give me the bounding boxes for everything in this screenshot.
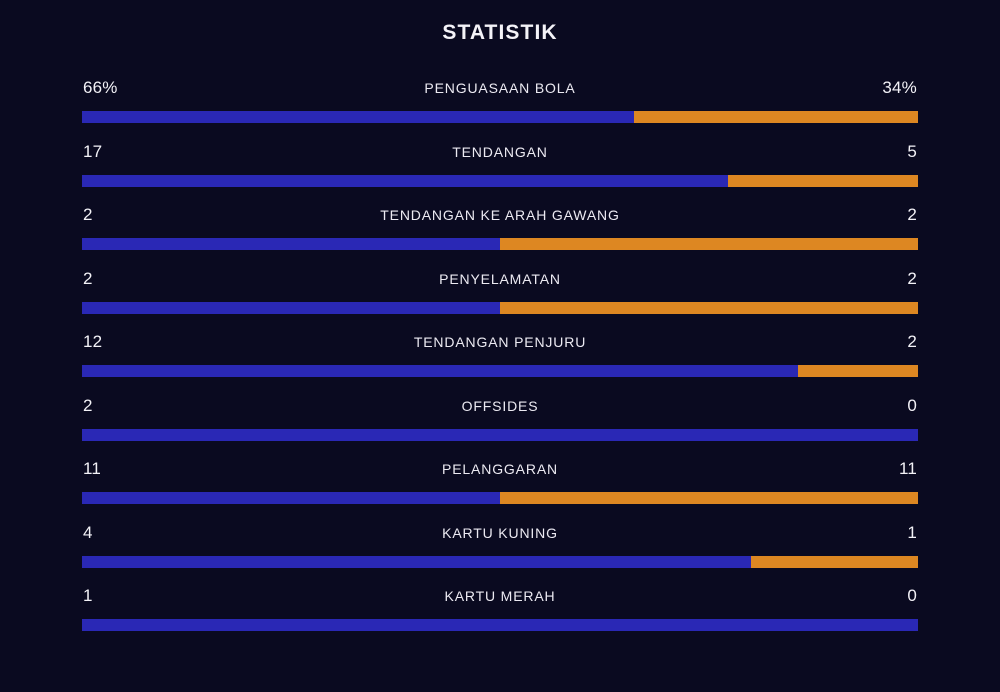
stat-row-labels: 4KARTU KUNING1	[82, 521, 918, 551]
stat-label: TENDANGAN	[82, 142, 918, 162]
away-bar	[82, 111, 918, 123]
away-value: 0	[907, 584, 917, 608]
match-statistics-panel: STATISTIK 66%PENGUASAAN BOLA34%17TENDANG…	[0, 0, 1000, 692]
stat-row-labels: 66%PENGUASAAN BOLA34%	[82, 76, 918, 106]
stat-label: PENGUASAAN BOLA	[82, 78, 918, 98]
stat-label: TENDANGAN PENJURU	[82, 332, 918, 352]
stat-row-labels: 2PENYELAMATAN2	[82, 267, 918, 297]
stat-row-labels: 12TENDANGAN PENJURU2	[82, 330, 918, 360]
stat-row: 1KARTU MERAH0	[82, 584, 918, 648]
stat-row: 17TENDANGAN5	[82, 140, 918, 204]
away-value: 34%	[882, 76, 917, 100]
away-bar	[82, 302, 918, 314]
away-bar	[82, 238, 918, 250]
away-value: 2	[907, 267, 917, 291]
away-bar	[82, 619, 918, 631]
stat-row: 66%PENGUASAAN BOLA34%	[82, 76, 918, 140]
stat-row-labels: 11PELANGGARAN11	[82, 457, 918, 487]
away-value: 2	[907, 203, 917, 227]
home-bar	[82, 111, 634, 123]
away-bar	[82, 175, 918, 187]
stat-row: 2PENYELAMATAN2	[82, 267, 918, 331]
away-value: 0	[907, 394, 917, 418]
stat-label: KARTU MERAH	[82, 586, 918, 606]
stat-label: OFFSIDES	[82, 396, 918, 416]
stat-row: 2OFFSIDES0	[82, 394, 918, 458]
away-value: 11	[899, 457, 917, 481]
home-bar	[82, 238, 500, 250]
home-bar	[82, 492, 500, 504]
away-bar	[82, 492, 918, 504]
page-title: STATISTIK	[0, 21, 1000, 45]
stat-row-labels: 2TENDANGAN KE ARAH GAWANG2	[82, 203, 918, 233]
stat-row: 11PELANGGARAN11	[82, 457, 918, 521]
stat-row: 4KARTU KUNING1	[82, 521, 918, 585]
away-value: 2	[907, 330, 917, 354]
away-value: 5	[907, 140, 917, 164]
home-bar	[82, 175, 728, 187]
stat-label: KARTU KUNING	[82, 523, 918, 543]
stat-label: PENYELAMATAN	[82, 269, 918, 289]
home-bar	[82, 556, 751, 568]
away-bar	[82, 556, 918, 568]
stat-row-labels: 17TENDANGAN5	[82, 140, 918, 170]
stat-row-labels: 1KARTU MERAH0	[82, 584, 918, 614]
statistics-list: 66%PENGUASAAN BOLA34%17TENDANGAN52TENDAN…	[82, 76, 918, 648]
home-bar	[82, 365, 798, 377]
stat-row: 12TENDANGAN PENJURU2	[82, 330, 918, 394]
away-value: 1	[907, 521, 917, 545]
home-bar	[82, 302, 500, 314]
away-bar	[82, 365, 918, 377]
stat-row-labels: 2OFFSIDES0	[82, 394, 918, 424]
home-bar	[82, 619, 918, 631]
stat-label: PELANGGARAN	[82, 459, 918, 479]
away-bar	[82, 429, 918, 441]
stat-label: TENDANGAN KE ARAH GAWANG	[82, 205, 918, 225]
home-bar	[82, 429, 918, 441]
stat-row: 2TENDANGAN KE ARAH GAWANG2	[82, 203, 918, 267]
